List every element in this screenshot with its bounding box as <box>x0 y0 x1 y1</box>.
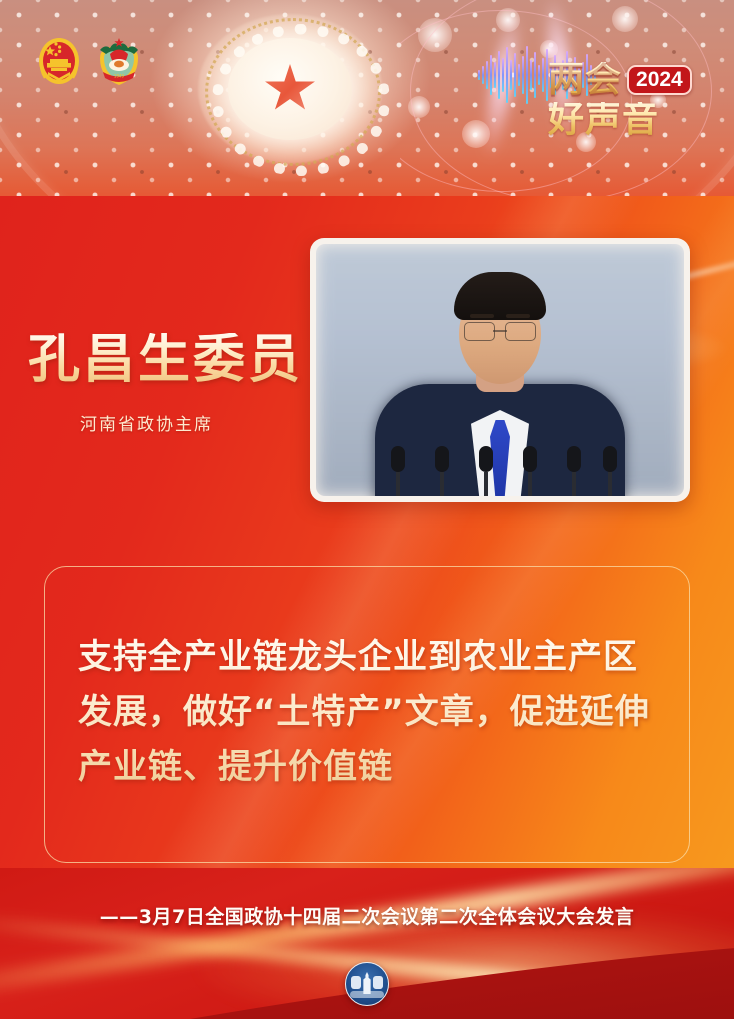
emblem-wing-left <box>351 976 361 989</box>
speaker-photo-card <box>310 238 690 502</box>
quote-text: 支持全产业链龙头企业到农业主产区发展，做好“土特产”文章，促进延伸产业链、提升价… <box>78 630 668 795</box>
year-badge: 2024 <box>627 65 692 95</box>
microphone-group <box>375 440 625 496</box>
emblem-band <box>350 991 384 998</box>
emblem-wing-right <box>373 976 383 989</box>
organization-round-emblem <box>345 962 389 1006</box>
poster-root: 1949 两会 2024 好声音 孔昌生委员 河南省政协主席 <box>0 0 734 1019</box>
brand-line2: 好声音 <box>548 102 718 138</box>
speaker-name: 孔昌生委员 <box>28 333 303 388</box>
emblem-group: 1949 <box>36 34 142 92</box>
photo-glasses <box>464 322 536 340</box>
brand-line1: 两会 <box>548 62 622 98</box>
footer-caption: ——3月7日全国政协十四届二次会议第二次全体会议大会发言 <box>0 902 734 929</box>
svg-text:1949: 1949 <box>114 74 125 79</box>
speaker-photo <box>316 244 684 496</box>
cppcc-emblem: 1949 <box>96 34 142 92</box>
speaker-role: 河南省政协主席 <box>80 410 213 435</box>
national-emblem-of-china <box>36 34 82 92</box>
brand-lockup: 两会 2024 好声音 <box>548 62 718 148</box>
red-star-ceiling-ornament <box>198 14 382 164</box>
ceiling-header: 1949 两会 2024 好声音 <box>0 0 734 210</box>
